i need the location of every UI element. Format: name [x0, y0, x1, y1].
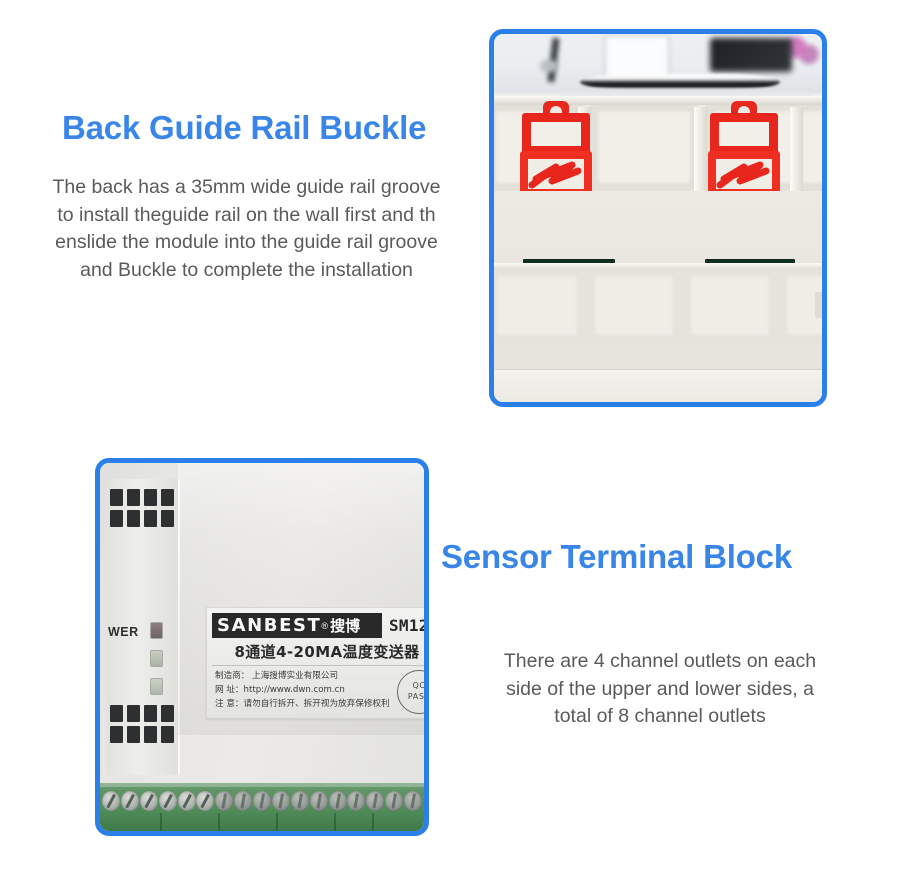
body-line: enslide the module into the guide rail g… [0, 229, 493, 257]
terminal-screw [196, 791, 214, 811]
housing-slot [682, 267, 778, 344]
terminal-screw [234, 791, 252, 811]
terminal-screw [253, 791, 271, 811]
case-seam-line [178, 481, 179, 773]
section-body-back-guide-rail-buckle: The back has a 35mm wide guide rail groo… [0, 174, 493, 285]
terminal-screw-row [102, 788, 422, 814]
status-led [150, 622, 163, 639]
vent-grille-top [110, 489, 174, 527]
terminal-screw [272, 791, 290, 811]
model-number: SM1201M [389, 616, 429, 635]
body-line: total of 8 channel outlets [452, 703, 868, 731]
registered-trademark-icon: ® [321, 621, 328, 631]
photo-sensor-terminal-block: WER SANBEST ® 搜博 SM1201M 8通道4-20MA温度变送器 [95, 458, 429, 836]
housing-divider [790, 107, 803, 191]
label-fineprint: 制造商： 上海搜博实业有限公司 网 址：http://www.dwn.com.c… [215, 670, 395, 712]
buckle-upper-frame [522, 113, 590, 155]
housing-slot [586, 267, 682, 344]
housing-slot [489, 267, 586, 344]
terminal-screw [140, 791, 158, 811]
qc-line-1: QC [412, 681, 425, 692]
section-title-sensor-terminal-block: Sensor Terminal Block [441, 539, 792, 575]
section-title-back-guide-rail-buckle: Back Guide Rail Buckle [62, 110, 426, 146]
terminal-screw [366, 791, 384, 811]
terminal-screw [159, 791, 177, 811]
terminal-screw [385, 791, 403, 811]
housing-divider [694, 107, 707, 191]
brand-band: SANBEST ® 搜博 [212, 613, 382, 638]
brand-name-chinese: 搜博 [330, 615, 360, 636]
transmitter-front-photo-scene: WER SANBEST ® 搜博 SM1201M 8通道4-20MA温度变送器 [100, 463, 424, 831]
body-line: The back has a 35mm wide guide rail groo… [0, 174, 493, 202]
fineprint-line: 网 址：http://www.dwn.com.cn [215, 684, 395, 698]
fineprint-line: 制造商： 上海搜博实业有限公司 [215, 670, 395, 684]
lower-slot-row [494, 267, 822, 347]
terminal-screw [102, 791, 120, 811]
qc-pass-stamp: QC PASS [397, 670, 429, 714]
photo-back-guide-rail-buckle [489, 29, 827, 407]
module-back-housing [494, 96, 822, 402]
section-body-sensor-terminal-block: There are 4 channel outlets on each side… [452, 648, 868, 731]
status-led [150, 678, 163, 695]
housing-slot [590, 105, 698, 191]
buckle-upper-frame [710, 113, 778, 155]
terminal-top-highlight [100, 783, 424, 787]
vent-grille-bottom [110, 705, 174, 743]
fineprint-line: 注 意：请勿自行拆开、拆开视为放弃保修权利 [215, 698, 395, 712]
terminal-screw [347, 791, 365, 811]
brand-name: SANBEST [212, 615, 321, 636]
background-dark-object [710, 38, 792, 72]
din-rail-back-photo-scene [494, 34, 822, 402]
module-front-case: WER SANBEST ® 搜博 SM1201M 8通道4-20MA温度变送器 [100, 463, 424, 783]
qc-line-2: PASS [408, 692, 429, 703]
housing-bottom-lip [494, 369, 822, 402]
body-line: and Buckle to complete the installation [0, 257, 493, 285]
body-line: There are 4 channel outlets on each [452, 648, 868, 676]
terminal-screw [291, 791, 309, 811]
body-line: side of the upper and lower sides, a [452, 676, 868, 704]
buckle-spring-icon [714, 157, 774, 193]
guide-rail-buckle [522, 101, 590, 195]
left-connector-column: WER [106, 479, 180, 775]
background-knob [540, 60, 558, 72]
terminal-screw [329, 791, 347, 811]
terminal-screw [121, 791, 139, 811]
terminal-screw [178, 791, 196, 811]
terminal-screw [215, 791, 233, 811]
power-led-label: WER [108, 625, 139, 639]
terminal-screw [404, 791, 422, 811]
guide-rail-buckle [710, 101, 778, 195]
product-description: 8通道4-20MA温度变送器 [207, 641, 429, 662]
green-terminal-block [100, 783, 424, 831]
label-divider [212, 665, 429, 666]
product-label: SANBEST ® 搜博 SM1201M 8通道4-20MA温度变送器 制造商：… [206, 607, 429, 719]
body-line: to install theguide rail on the wall fir… [0, 202, 493, 230]
buckle-spring-icon [526, 157, 586, 193]
status-led [150, 650, 163, 667]
terminal-screw [310, 791, 328, 811]
terminal-seams [100, 813, 424, 831]
housing-side-nub [815, 292, 822, 318]
